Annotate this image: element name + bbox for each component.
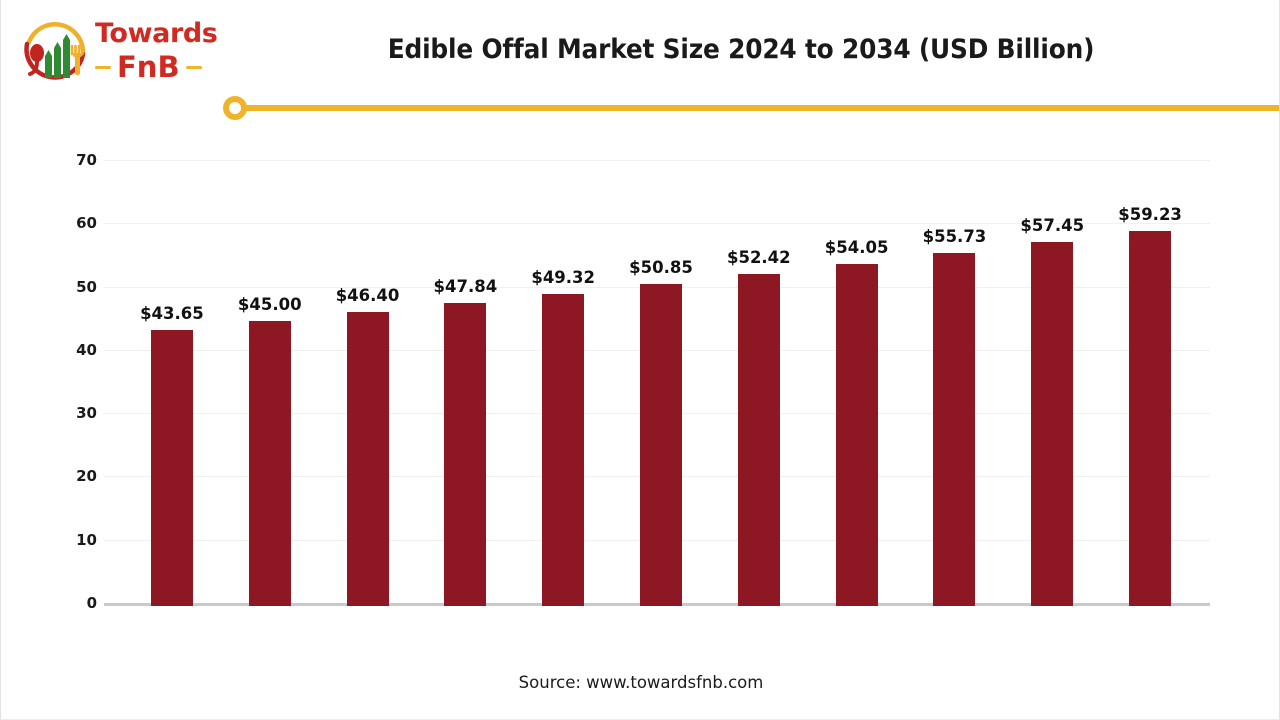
- bar-value-label: $47.84: [434, 277, 498, 296]
- y-axis-tick-label: 70: [47, 151, 97, 169]
- bar-value-label: $57.45: [1020, 216, 1084, 235]
- title-divider-dot-icon: [223, 96, 247, 120]
- logo-dash-left-icon: [95, 66, 111, 69]
- chart-page: Towards FnB Edible Offal Market Size 202…: [0, 0, 1280, 720]
- chart-title: Edible Offal Market Size 2024 to 2034 (U…: [281, 34, 1201, 65]
- bar[interactable]: [1031, 242, 1073, 606]
- bar[interactable]: [542, 294, 584, 606]
- towards-fnb-emblem-icon: [19, 20, 91, 88]
- bar-value-label: $46.40: [336, 286, 400, 305]
- y-axis-tick-label: 60: [47, 214, 97, 232]
- bar-value-label: $59.23: [1118, 205, 1182, 224]
- bar[interactable]: [640, 284, 682, 606]
- bar-value-label: $55.73: [923, 227, 987, 246]
- gridline: [104, 160, 1210, 161]
- y-axis-tick-label: 50: [47, 278, 97, 296]
- bar-value-label: $54.05: [825, 238, 889, 257]
- towards-fnb-logo[interactable]: Towards FnB: [15, 14, 225, 92]
- y-axis-tick-label: 20: [47, 467, 97, 485]
- logo-word-fnb-row: FnB: [95, 51, 225, 83]
- bar-value-label: $50.85: [629, 258, 693, 277]
- bar[interactable]: [151, 330, 193, 606]
- title-divider-rule: [225, 105, 1280, 111]
- source-caption: Source: www.towardsfnb.com: [1, 673, 1280, 692]
- bar-value-label: $45.00: [238, 295, 302, 314]
- bar[interactable]: [249, 321, 291, 606]
- bar[interactable]: [1129, 231, 1171, 606]
- bar[interactable]: [444, 303, 486, 606]
- y-axis-tick-label: 40: [47, 341, 97, 359]
- logo-word-fnb: FnB: [117, 51, 180, 83]
- y-axis-tick-label: 0: [47, 594, 97, 612]
- towards-fnb-wordmark: Towards FnB: [95, 18, 225, 88]
- bar-value-label: $52.42: [727, 248, 791, 267]
- bar[interactable]: [738, 274, 780, 606]
- bar-value-label: $43.65: [140, 304, 204, 323]
- bar[interactable]: [347, 312, 389, 606]
- y-axis-tick-label: 30: [47, 404, 97, 422]
- y-axis-tick-label: 10: [47, 531, 97, 549]
- bar-chart-plot-area: 010203040506070 $43.652024$45.002025$46.…: [104, 160, 1210, 606]
- bar[interactable]: [933, 253, 975, 606]
- logo-word-towards: Towards: [95, 18, 225, 50]
- logo-dash-right-icon: [186, 66, 202, 69]
- bar[interactable]: [836, 264, 878, 606]
- bar-value-label: $49.32: [531, 268, 595, 287]
